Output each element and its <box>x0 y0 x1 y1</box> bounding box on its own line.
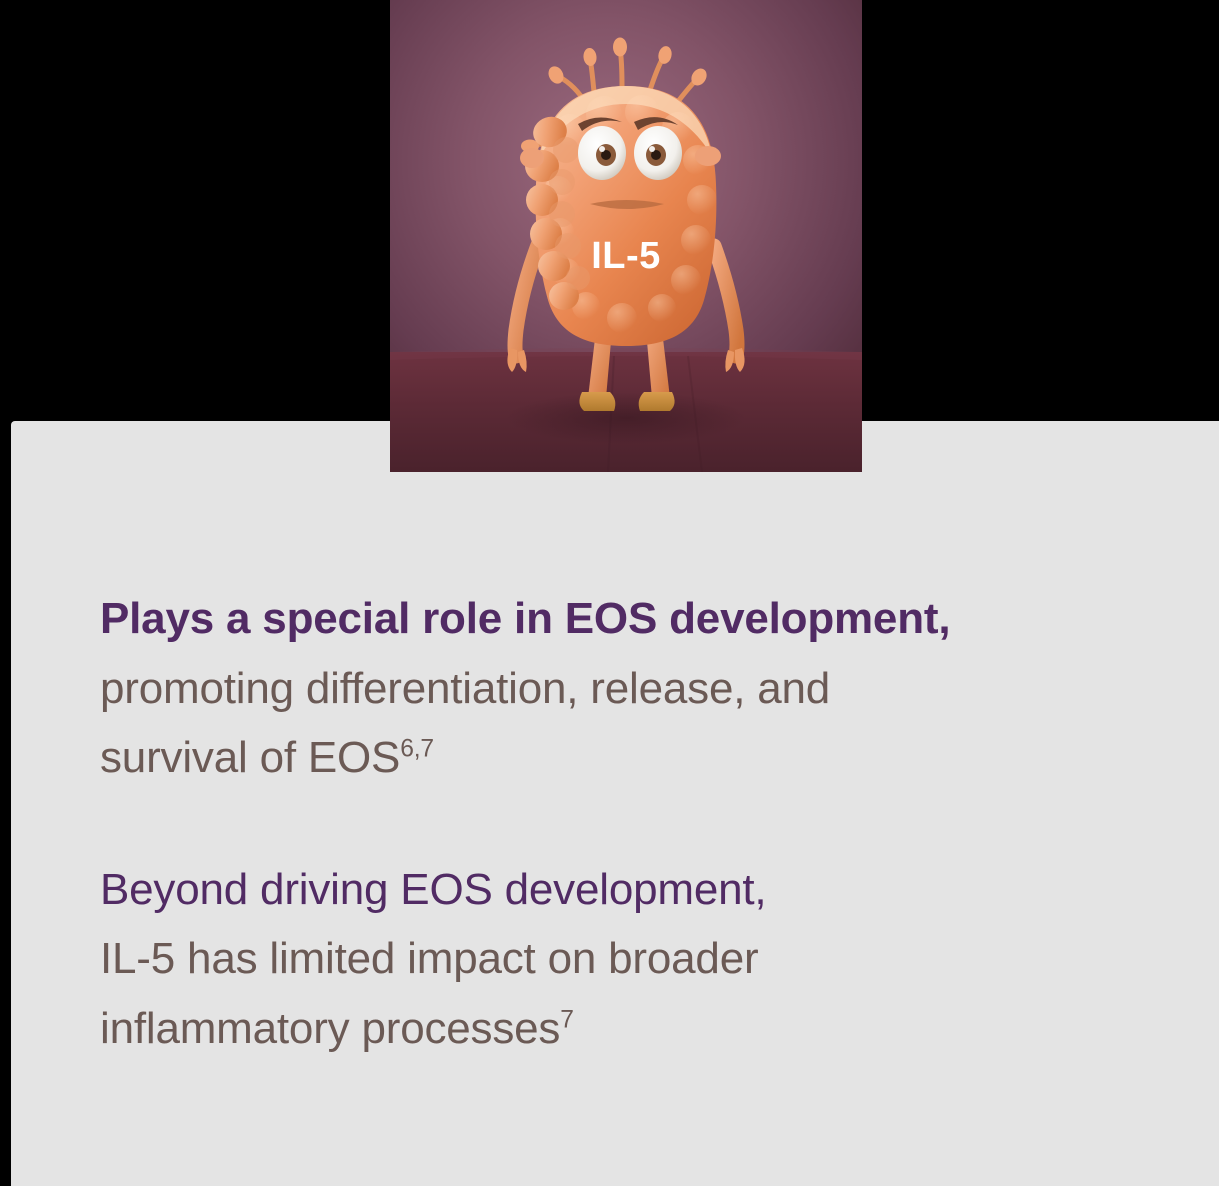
paragraph-limits-line-3-text: inflammatory processes <box>100 1004 560 1053</box>
paragraph-role-line-2: promoting differentiation, release, and <box>100 654 1190 724</box>
right-nub <box>695 146 721 166</box>
left-nub <box>520 148 544 168</box>
paragraph-role-line-3: survival of EOS6,7 <box>100 723 1190 793</box>
il5-character-svg <box>390 0 862 472</box>
left-eye <box>578 126 626 180</box>
paragraph-limits: Beyond driving EOS development, IL-5 has… <box>100 855 1190 1064</box>
paragraph-role: Plays a special role in EOS development,… <box>100 584 1190 793</box>
paragraph-limits-line-1: Beyond driving EOS development, <box>100 855 1190 925</box>
paragraph-limits-citation: 7 <box>560 1006 574 1033</box>
il5-character-image <box>390 0 862 472</box>
right-foot <box>639 392 675 411</box>
text-block: Plays a special role in EOS development,… <box>100 584 1190 1063</box>
paragraph-limits-line-2: IL-5 has limited impact on broader <box>100 924 1190 994</box>
paragraph-role-line-1: Plays a special role in EOS development, <box>100 584 1190 654</box>
right-eye <box>634 126 682 180</box>
paragraph-role-line-3-text: survival of EOS <box>100 733 400 782</box>
paragraph-role-citation: 6,7 <box>400 735 434 762</box>
left-foot <box>579 392 615 411</box>
paragraph-limits-line-3: inflammatory processes7 <box>100 994 1190 1064</box>
ground-shadow <box>506 392 746 444</box>
